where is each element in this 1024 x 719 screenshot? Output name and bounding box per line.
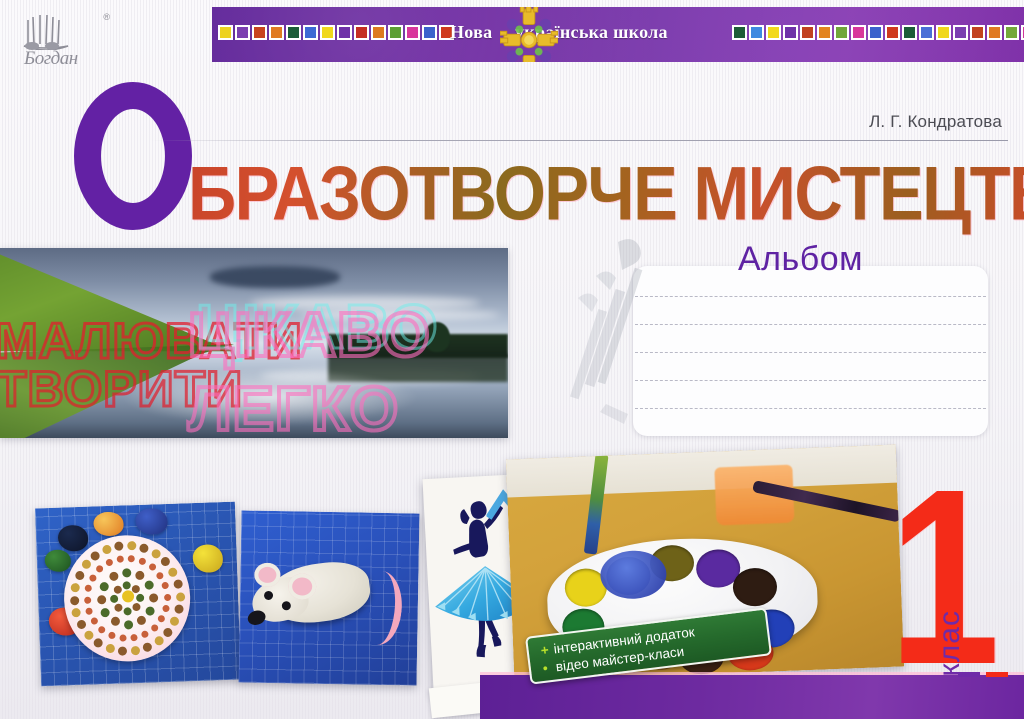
plasticine-dot	[96, 565, 103, 572]
plasticine-dot	[108, 632, 115, 639]
banner-color-square	[337, 25, 352, 40]
plasticine-dot	[154, 636, 163, 645]
author-name: Л. Г. Кондратова	[869, 112, 1002, 132]
plasticine-dot	[127, 541, 136, 550]
paint-brushes-watermark-icon	[566, 236, 676, 426]
banner-color-square	[919, 25, 934, 40]
color-swatch	[751, 27, 762, 38]
banner-color-square	[286, 25, 301, 40]
color-swatch	[373, 27, 384, 38]
plasticine-dot	[143, 643, 152, 652]
plasticine-dot	[140, 544, 149, 553]
banner-color-square	[422, 25, 437, 40]
corner-tick	[986, 672, 1008, 677]
plasticine-dot	[123, 620, 132, 629]
color-swatch	[322, 27, 333, 38]
color-swatch	[819, 27, 830, 38]
plasticine-dot	[156, 572, 163, 579]
title-first-letter	[74, 82, 192, 230]
banner-color-square	[783, 25, 798, 40]
banner-color-square	[953, 25, 968, 40]
publisher-name: Богдан	[24, 48, 78, 70]
plasticine-dot	[175, 592, 184, 601]
color-swatch	[424, 27, 435, 38]
plasticine-dot	[119, 635, 126, 642]
plasticine-dot	[145, 606, 154, 615]
color-swatch	[288, 27, 299, 38]
color-swatch	[237, 27, 248, 38]
plasticine-dot	[148, 593, 157, 602]
plasticine-dot	[151, 549, 160, 558]
plasticine-dot	[89, 574, 96, 581]
color-swatch	[390, 27, 401, 38]
book-cover: ® Богдан Нова українська школа	[0, 0, 1024, 719]
banner-color-square	[371, 25, 386, 40]
banner-color-square	[388, 25, 403, 40]
color-swatch	[836, 27, 847, 38]
plasticine-dot	[169, 567, 178, 576]
plasticine-mouse-photo	[239, 510, 420, 685]
plasticine-dot	[145, 580, 154, 589]
nus-banner: Нова українська школа	[212, 7, 1024, 62]
plasticine-dot	[164, 593, 171, 600]
banner-color-square	[218, 25, 233, 40]
color-swatch	[802, 27, 813, 38]
plasticine-dot	[97, 595, 106, 604]
plasticine-dot	[116, 555, 123, 562]
plasticine-dot	[110, 595, 118, 603]
banner-color-square	[303, 25, 318, 40]
banner-color-square	[766, 25, 781, 40]
corner-color-ticks	[958, 672, 1008, 677]
plasticine-dot	[109, 572, 118, 581]
banner-color-square	[252, 25, 267, 40]
plasticine-dot	[110, 617, 119, 626]
plasticine-dot	[131, 634, 138, 641]
color-swatch	[938, 27, 949, 38]
color-swatch	[989, 27, 1000, 38]
plasticine-dot	[102, 545, 111, 554]
banner-color-square	[405, 25, 420, 40]
banner-color-square	[936, 25, 951, 40]
plasticine-dot	[105, 644, 114, 653]
plasticine-dot	[70, 596, 79, 605]
plasticine-dot	[85, 585, 92, 592]
banner-color-square	[885, 25, 900, 40]
plasticine-dot	[71, 583, 80, 592]
color-swatch	[734, 27, 745, 38]
banner-text-nova: Нова	[450, 22, 492, 43]
landscape-lake-photo: МАЛЮВАТИ ТВОРИТИ ЦІКАВО ЦІКАВО ЛЕГКО	[0, 248, 508, 438]
banner-color-square	[749, 25, 764, 40]
plasticine-dot	[91, 618, 98, 625]
plasticine-dot	[100, 608, 109, 617]
color-swatch	[870, 27, 881, 38]
banner-color-square	[851, 25, 866, 40]
banner-color-square	[817, 25, 832, 40]
publisher-logo: ® Богдан	[18, 10, 108, 72]
plasticine-dot	[161, 582, 168, 589]
banner-color-square	[987, 25, 1002, 40]
plasticine-dot	[91, 551, 100, 560]
plasticine-dot	[133, 603, 141, 611]
banner-color-square	[235, 25, 250, 40]
color-swatch	[339, 27, 350, 38]
plasticine-dot	[82, 560, 91, 569]
banner-color-square	[732, 25, 747, 40]
banner-color-square	[800, 25, 815, 40]
plasticine-dot	[158, 615, 165, 622]
banner-color-square	[1004, 25, 1019, 40]
plasticine-dot	[131, 646, 140, 655]
color-swatch	[305, 27, 316, 38]
plasticine-dot	[76, 620, 85, 629]
plasticine-dot	[141, 631, 148, 638]
plasticine-plate-photo	[35, 502, 241, 687]
grade-label: клас	[933, 610, 967, 677]
color-swatch	[407, 27, 418, 38]
author-rule	[150, 140, 1008, 141]
banner-color-square	[902, 25, 917, 40]
plasticine-dot	[75, 571, 84, 580]
plasticine-dot	[94, 638, 103, 647]
plasticine-dot	[132, 585, 140, 593]
plasticine-dot	[139, 558, 146, 565]
plasticine-dot	[100, 582, 109, 591]
color-swatch	[254, 27, 265, 38]
plasticine-dot	[106, 559, 113, 566]
color-swatch	[220, 27, 231, 38]
plasticine-dot	[114, 604, 122, 612]
plasticine-dot	[149, 564, 156, 571]
plasticine-dot	[135, 571, 144, 580]
plasticine-dot	[170, 617, 179, 626]
banner-color-square	[868, 25, 883, 40]
plasticine-dot	[86, 607, 93, 614]
plasticine-dot	[123, 581, 131, 589]
plasticine-dot	[161, 557, 170, 566]
plasticine-dot	[162, 605, 169, 612]
plasticine-dot	[136, 616, 145, 625]
banner-color-square	[320, 25, 335, 40]
plasticine-dot	[151, 624, 158, 631]
plasticine-dot	[84, 630, 93, 639]
name-line	[635, 408, 986, 409]
album-label: Альбом	[738, 240, 863, 279]
title-text: БРАЗОТВОРЧЕ МИСТЕЦТВО	[188, 150, 1024, 238]
color-swatch	[904, 27, 915, 38]
banner-color-square	[354, 25, 369, 40]
banner-color-square	[834, 25, 849, 40]
name-line	[635, 324, 986, 325]
plasticine-dot	[71, 608, 80, 617]
banner-color-square	[269, 25, 284, 40]
color-swatch	[1006, 27, 1017, 38]
banner-squares-left	[218, 25, 454, 40]
plasticine-dot	[123, 607, 131, 615]
color-swatch	[271, 27, 282, 38]
color-swatch	[768, 27, 779, 38]
plasticine-dot	[136, 594, 144, 602]
name-line	[635, 352, 986, 353]
name-line	[635, 296, 986, 297]
plasticine-dot	[128, 555, 135, 562]
registered-trademark: ®	[103, 12, 110, 22]
color-swatch	[887, 27, 898, 38]
color-swatch	[356, 27, 367, 38]
color-swatch	[785, 27, 796, 38]
color-swatch	[853, 27, 864, 38]
plasticine-dot	[173, 579, 182, 588]
plasticine-dot	[118, 647, 127, 656]
plasticine-dot	[98, 626, 105, 633]
plasticine-dot	[113, 585, 121, 593]
corner-tick	[958, 672, 980, 677]
plasticine-dot	[122, 568, 131, 577]
book-wheat-logo-icon	[18, 10, 74, 50]
banner-squares-right	[732, 25, 1024, 40]
color-swatch	[921, 27, 932, 38]
plasticine-dot	[114, 541, 123, 550]
name-line	[635, 380, 986, 381]
banner-color-square	[970, 25, 985, 40]
color-swatch	[955, 27, 966, 38]
nus-emblem-icon	[500, 7, 558, 62]
name-lines-box[interactable]	[633, 266, 988, 436]
plasticine-dot	[163, 627, 172, 636]
plasticine-dot	[174, 605, 183, 614]
color-swatch	[972, 27, 983, 38]
plasticine-dot	[84, 596, 91, 603]
